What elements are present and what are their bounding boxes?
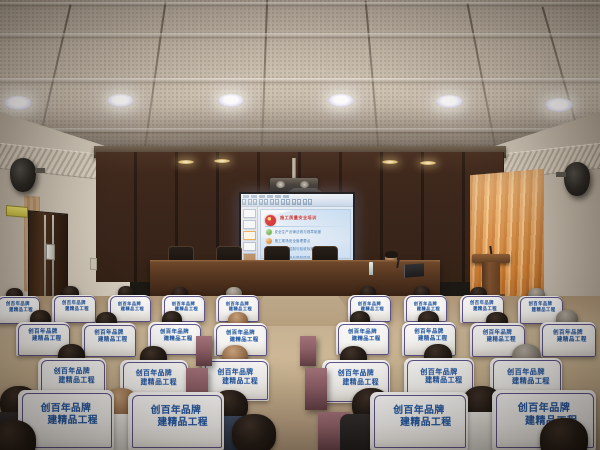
chair-cover-line2: 建精品工程	[82, 337, 136, 344]
projector-lens-icon	[276, 181, 285, 188]
chair-slipcover: 创百年品牌 建精品工程	[540, 322, 596, 357]
chair-cover-line2: 建精品工程	[322, 378, 390, 386]
toolbar-button-icon	[264, 199, 268, 205]
menu-item-icon	[283, 195, 289, 198]
chair-cover-line2: 建精品工程	[128, 417, 224, 429]
slide-thumbnail[interactable]	[243, 242, 256, 251]
slide-bullet-text: 施工现场安全管理要点	[275, 239, 311, 243]
ceiling-downlight	[4, 96, 32, 110]
chair-cover-text: 创百年品牌 建精品工程	[370, 405, 468, 429]
front-wall-spotlight	[382, 160, 398, 164]
toolbar-button-icon	[308, 199, 312, 205]
toolbar-button-icon	[275, 199, 279, 205]
toolbar-button-icon	[253, 199, 257, 205]
toolbar-button-icon	[242, 199, 246, 205]
chair-cover-line2: 建精品工程	[38, 376, 106, 384]
chair-cover-text: 创百年品牌 建精品工程	[18, 403, 114, 427]
front-wall-spotlight	[178, 160, 194, 164]
conference-room-photo: 施工质量安全培训 安全生产法律法规与规章制度 施工现场安全管理要点 工程质量控制…	[0, 0, 600, 450]
menu-item-icon	[275, 195, 281, 198]
speaker-mount-right	[556, 172, 566, 177]
chair-cover-line2: 建精品工程	[16, 336, 70, 343]
chair-cover-text: 创百年品牌 建精品工程	[52, 301, 96, 312]
slide-bullet-item: 施工现场安全管理要点	[266, 238, 347, 244]
chair-cover-line2: 建精品工程	[202, 377, 269, 385]
chair-cover-text: 创百年品牌 建精品工程	[404, 368, 474, 386]
toolbar-button-icon	[303, 199, 307, 205]
front-wall-spotlight	[214, 159, 230, 163]
toolbar-button-icon	[292, 199, 296, 205]
slide-thumbnail-pane[interactable]	[241, 207, 258, 261]
chair-cover-line2: 建精品工程	[518, 308, 563, 313]
chair-cover-line2: 建精品工程	[148, 336, 201, 343]
ceiling-grid-band	[0, 2, 600, 5]
chair-cover-text: 创百年品牌 建精品工程	[348, 301, 391, 312]
wall-speaker-left	[10, 158, 36, 192]
slide-thumbnail[interactable]	[243, 209, 256, 218]
chair-cover-text: 创百年品牌 建精品工程	[82, 330, 136, 344]
chair-cover-line1: 创百年品牌	[120, 369, 188, 377]
toolbar-button-icon	[259, 199, 263, 205]
front-wall-spotlight	[420, 161, 436, 165]
ceiling-grid-band	[0, 33, 600, 37]
chair-cover-line2: 建精品工程	[370, 417, 468, 429]
chair-cover-text: 创百年品牌 建精品工程	[16, 329, 70, 343]
chair-cover-line2: 建精品工程	[348, 306, 391, 311]
ceiling-downlight	[107, 94, 134, 107]
chair-with-cover: 创百年品牌 建精品工程	[82, 323, 136, 357]
chair-cover-line2: 建精品工程	[336, 336, 389, 343]
ceiling-downlight	[436, 95, 463, 108]
ceiling-grid-band	[0, 78, 600, 82]
wall-sign-left	[6, 205, 28, 218]
chair-cover-line2: 建精品工程	[18, 415, 114, 427]
chair-cover-line1: 创百年品牌	[202, 368, 269, 376]
chair-cover-text: 创百年品牌 建精品工程	[128, 405, 224, 429]
chair-cover-text: 创百年品牌 建精品工程	[202, 368, 269, 385]
chair-cover-text: 创百年品牌 建精品工程	[404, 301, 447, 312]
chair-cover-line1: 创百年品牌	[370, 405, 468, 417]
chair-cover-text: 创百年品牌 建精品工程	[322, 369, 390, 386]
chair-cover-line1: 创百年品牌	[18, 403, 114, 415]
chair-slipcover: 创百年品牌 建精品工程	[128, 392, 224, 450]
chair-cover-text: 创百年品牌 建精品工程	[540, 330, 596, 344]
chair-cover-text: 创百年品牌 建精品工程	[148, 329, 201, 342]
chair-cover-line2: 建精品工程	[402, 336, 456, 343]
menu-item-icon	[243, 195, 249, 198]
chair-cover-text: 创百年品牌 建精品工程	[402, 329, 456, 343]
bullet-dot-icon	[266, 238, 272, 244]
speaker-mount-left	[35, 168, 45, 173]
app-ribbon-toolbar	[242, 199, 312, 205]
chair-with-cover: 创百年品牌 建精品工程	[370, 392, 468, 450]
chair-cover-line2: 建精品工程	[540, 337, 596, 344]
toolbar-button-icon	[281, 199, 285, 205]
chair-cover-text: 创百年品牌 建精品工程	[216, 301, 259, 312]
chair-slipcover: 创百年品牌 建精品工程	[52, 295, 96, 323]
ceiling-downlight	[218, 94, 244, 107]
chair-slipcover: 创百年品牌 建精品工程	[82, 323, 136, 357]
slide-thumbnail[interactable]	[243, 220, 256, 229]
chair-cover-line1: 创百年品牌	[540, 330, 596, 337]
chair-cover-line1: 创百年品牌	[492, 403, 596, 416]
chair-cover-text: 创百年品牌 建精品工程	[490, 368, 562, 386]
app-menu-bar	[243, 195, 289, 198]
chair-cover-line2: 建精品工程	[214, 337, 267, 344]
water-bottle-on-table	[369, 262, 373, 275]
chair-cover-line2: 建精品工程	[490, 377, 562, 386]
chair-cover-line2: 建精品工程	[404, 376, 474, 385]
menu-item-icon	[251, 195, 257, 198]
menu-item-icon	[259, 195, 265, 198]
seat-end-panel	[196, 336, 212, 366]
chair-cover-line2: 建精品工程	[108, 306, 151, 311]
chair-cover-text: 创百年品牌 建精品工程	[38, 367, 106, 384]
slide-bullet-item: 安全生产法律法规与规章制度	[266, 229, 347, 235]
chair-cover-line2: 建精品工程	[52, 307, 96, 312]
wall-speaker-right	[564, 162, 590, 196]
projector-lens-icon	[300, 181, 309, 188]
wall-switch-plate[interactable]	[90, 258, 97, 271]
presenter-hair	[385, 251, 398, 258]
chair-slipcover: 创百年品牌 建精品工程	[370, 392, 468, 450]
slide-thumbnail-selected[interactable]	[243, 231, 256, 240]
audience-head-foreground	[232, 414, 276, 450]
chair-cover-line2: 建精品工程	[120, 378, 188, 386]
presenter-laptop	[404, 263, 424, 277]
chair-with-cover: 创百年品牌 建精品工程	[52, 295, 96, 323]
seat-end-panel	[300, 336, 316, 366]
seat-end-panel	[305, 368, 327, 410]
chair-cover-line2: 建精品工程	[216, 306, 259, 311]
chair-with-cover: 创百年品牌 建精品工程	[128, 392, 224, 450]
slide-title: 施工质量安全培训	[280, 215, 346, 220]
door-push-plate[interactable]	[46, 244, 55, 261]
chair-cover-line1: 创百年品牌	[336, 329, 389, 336]
projector-mount-pole	[292, 158, 296, 180]
chair-cover-line1: 创百年品牌	[322, 369, 390, 377]
chair-cover-text: 创百年品牌 建精品工程	[336, 329, 389, 342]
toolbar-button-icon	[270, 199, 274, 205]
chair-cover-text: 创百年品牌 建精品工程	[518, 302, 563, 313]
chair-cover-line2: 建精品工程	[470, 337, 525, 344]
chair-cover-text: 创百年品牌 建精品工程	[108, 301, 151, 312]
chair-cover-line1: 创百年品牌	[148, 329, 201, 336]
presentation-app-toolbar	[241, 194, 353, 207]
audience-head-foreground	[540, 418, 588, 450]
chair-cover-line1: 创百年品牌	[214, 330, 267, 337]
toolbar-button-icon	[248, 199, 252, 205]
slide-title-underline	[265, 226, 346, 227]
toolbar-button-icon	[297, 199, 301, 205]
company-emblem-icon	[265, 215, 276, 226]
ceiling-downlight	[545, 98, 573, 112]
bullet-dot-icon	[266, 229, 272, 235]
ceiling-downlight	[328, 94, 354, 107]
chair-cover-text: 创百年品牌 建精品工程	[120, 369, 188, 386]
menu-item-icon	[267, 195, 273, 198]
chair-cover-line1: 创百年品牌	[128, 405, 224, 417]
chair-cover-text: 创百年品牌 建精品工程	[162, 301, 205, 312]
toolbar-button-icon	[286, 199, 290, 205]
chair-cover-line1: 创百年品牌	[38, 367, 106, 375]
chair-cover-text: 创百年品牌 建精品工程	[460, 301, 504, 312]
chair-cover-text: 创百年品牌 建精品工程	[214, 330, 267, 343]
chair-with-cover: 创百年品牌 建精品工程	[540, 322, 596, 357]
slide-bullet-text: 安全生产法律法规与规章制度	[275, 230, 322, 234]
chair-cover-text: 创百年品牌 建精品工程	[470, 330, 525, 344]
